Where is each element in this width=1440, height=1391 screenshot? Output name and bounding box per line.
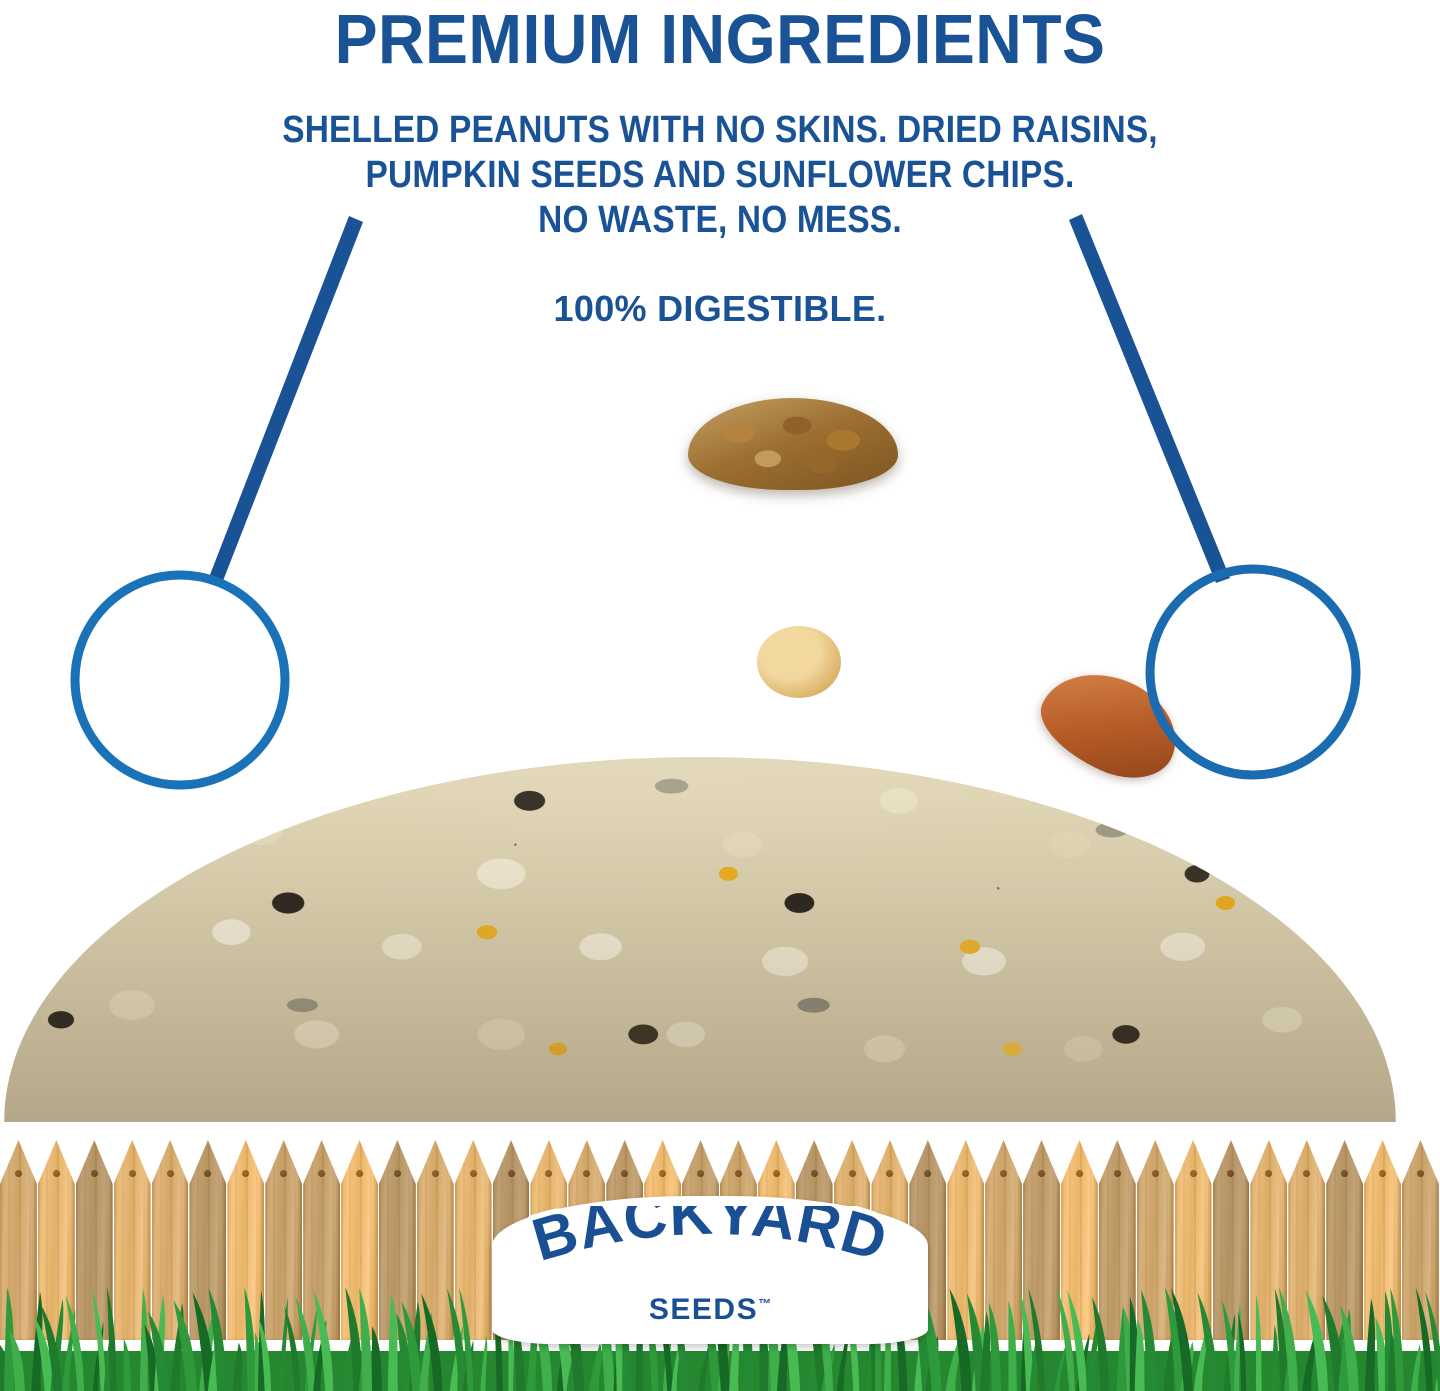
tan-seed-chip bbox=[757, 626, 841, 698]
fence-nail-icon bbox=[470, 1170, 477, 1177]
fence-nail-icon bbox=[659, 1170, 666, 1177]
fence-nail-icon bbox=[1190, 1170, 1197, 1177]
fence-nail-icon bbox=[15, 1170, 22, 1177]
fence-nail-icon bbox=[924, 1170, 931, 1177]
logo-brand-text: BACKYARD bbox=[525, 1206, 895, 1274]
grass-blade bbox=[388, 1293, 398, 1391]
fence-nail-icon bbox=[1303, 1170, 1310, 1177]
logo-seeds-label: SEEDS bbox=[649, 1293, 758, 1326]
fence-nail-icon bbox=[849, 1170, 856, 1177]
subtitle-line-3: NO WASTE, NO MESS. bbox=[86, 198, 1353, 243]
fence-nail-icon bbox=[242, 1170, 249, 1177]
grass-blade bbox=[1256, 1294, 1262, 1391]
logo-brand-arc: BACKYARD BACKYARD bbox=[492, 1206, 928, 1284]
fence-nail-icon bbox=[1379, 1170, 1386, 1177]
subtitle-line-1: SHELLED PEANUTS WITH NO SKINS. DRIED RAI… bbox=[86, 108, 1353, 153]
fence-nail-icon bbox=[129, 1170, 136, 1177]
pile-shading bbox=[0, 392, 1410, 1122]
trademark-icon: ™ bbox=[758, 1296, 771, 1311]
fence-nail-icon bbox=[280, 1170, 287, 1177]
fence-nail-icon bbox=[886, 1170, 893, 1177]
logo-sub-text: SEEDS™ bbox=[492, 1288, 928, 1326]
fence-nail-icon bbox=[1152, 1170, 1159, 1177]
brand-logo[interactable]: BACKYARD BACKYARD SEEDS™ bbox=[492, 1196, 928, 1344]
product-infographic: PREMIUM INGREDIENTS SHELLED PEANUTS WITH… bbox=[0, 0, 1440, 1391]
fence-nail-icon bbox=[53, 1170, 60, 1177]
fence-nail-icon bbox=[773, 1170, 780, 1177]
fence-nail-icon bbox=[962, 1170, 969, 1177]
fence-nail-icon bbox=[204, 1170, 211, 1177]
subtitle-block: SHELLED PEANUTS WITH NO SKINS. DRIED RAI… bbox=[0, 108, 1440, 243]
fence-nail-icon bbox=[1227, 1170, 1234, 1177]
product-photo bbox=[0, 380, 1440, 1140]
fence-nail-icon bbox=[1000, 1170, 1007, 1177]
seed-pile-mound bbox=[0, 392, 1410, 1122]
fence-nail-icon bbox=[735, 1170, 742, 1177]
digestible-claim: 100% DIGESTIBLE. bbox=[0, 288, 1440, 330]
fence-nail-icon bbox=[1038, 1170, 1045, 1177]
fence-nail-icon bbox=[508, 1170, 515, 1177]
fence-nail-icon bbox=[583, 1170, 590, 1177]
fence-nail-icon bbox=[1076, 1170, 1083, 1177]
fence-nail-icon bbox=[545, 1170, 552, 1177]
fence-nail-icon bbox=[394, 1170, 401, 1177]
fence-nail-icon bbox=[621, 1170, 628, 1177]
grass-blade bbox=[124, 1339, 131, 1391]
grass-blade bbox=[1365, 1298, 1375, 1391]
fence-nail-icon bbox=[318, 1170, 325, 1177]
grass-blade bbox=[372, 1326, 382, 1391]
fence-nail-icon bbox=[356, 1170, 363, 1177]
fence-nail-icon bbox=[1341, 1170, 1348, 1177]
fence-nail-icon bbox=[697, 1170, 704, 1177]
fence-nail-icon bbox=[1265, 1170, 1272, 1177]
fence-nail-icon bbox=[91, 1170, 98, 1177]
subtitle-line-2: PUMPKIN SEEDS AND SUNFLOWER CHIPS. bbox=[86, 153, 1353, 198]
page-title: PREMIUM INGREDIENTS bbox=[58, 2, 1383, 76]
fence-nail-icon bbox=[167, 1170, 174, 1177]
fence-nail-icon bbox=[1114, 1170, 1121, 1177]
fence-nail-icon bbox=[811, 1170, 818, 1177]
grass-blade bbox=[1008, 1301, 1017, 1391]
fence-nail-icon bbox=[1417, 1170, 1424, 1177]
fence-nail-icon bbox=[432, 1170, 439, 1177]
